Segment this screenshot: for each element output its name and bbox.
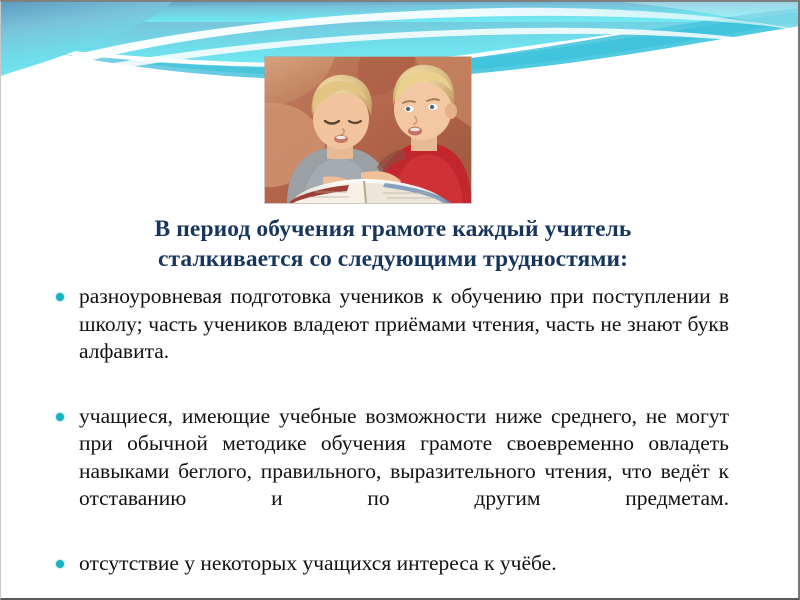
bullet-dot-icon [56, 413, 64, 421]
bullet-item-1-text: разноуровневая подготовка учеников к обу… [79, 283, 729, 394]
slide-title-line-1: В период обучения грамоте каждый учитель [59, 214, 727, 244]
bullet-dot-icon [56, 293, 64, 301]
bullet-item-3-text: отсутствие у некоторых учащихся интереса… [79, 550, 729, 578]
photo-children-reading [265, 57, 471, 203]
bullet-item-2: учащиеся, имеющие учебные возможности ни… [49, 403, 729, 541]
bullet-item-1: разноуровневая подготовка учеников к обу… [49, 283, 729, 394]
presentation-slide: В период обучения грамоте каждый учитель… [0, 0, 800, 600]
bullet-dot-icon [56, 560, 64, 568]
slide-title-line-2: сталкивается со следующими трудностями: [59, 244, 727, 274]
bullet-list: разноуровневая подготовка учеников к обу… [49, 283, 729, 577]
bullet-item-2-text: учащиеся, имеющие учебные возможности ни… [79, 403, 729, 541]
slide-title: В период обучения грамоте каждый учитель… [59, 214, 727, 274]
bullet-item-3: отсутствие у некоторых учащихся интереса… [49, 550, 729, 578]
